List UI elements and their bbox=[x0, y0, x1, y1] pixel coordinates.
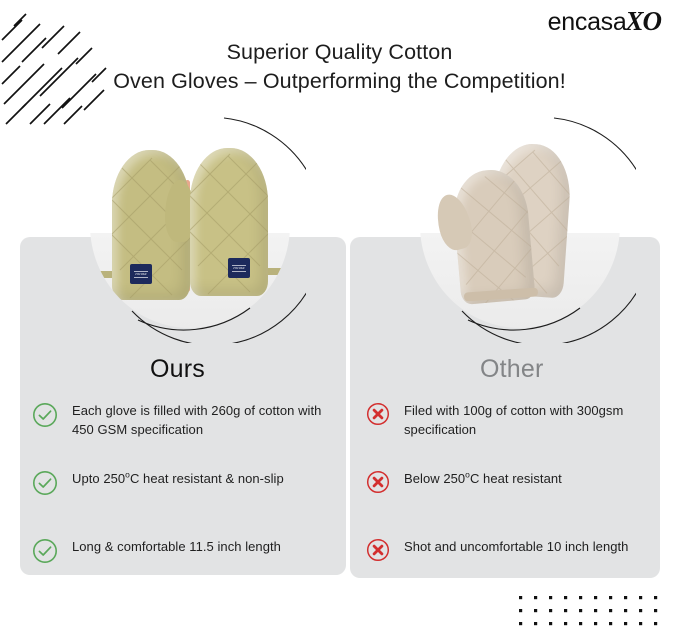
ours-feature-list: Each glove is filled with 260g of cotton… bbox=[32, 400, 332, 604]
page-title: Superior Quality Cotton Oven Gloves – Ou… bbox=[0, 38, 679, 96]
brand-mark: XO bbox=[625, 6, 661, 37]
feature-text: Long & comfortable 11.5 inch length bbox=[72, 536, 281, 557]
other-feature-list: Filed with 100g of cotton with 300gsm sp… bbox=[366, 400, 654, 604]
feature-text: Below 250oC heat resistant bbox=[404, 468, 562, 489]
feature-text: Filed with 100g of cotton with 300gsm sp… bbox=[404, 400, 654, 439]
feature-text-main: Below 250 bbox=[404, 471, 465, 486]
ours-image-ring bbox=[74, 108, 306, 343]
check-circle-icon bbox=[32, 538, 58, 564]
feature-text-tail: C heat resistant bbox=[470, 471, 562, 486]
check-circle-icon bbox=[32, 470, 58, 496]
check-circle-icon bbox=[32, 402, 58, 428]
other-image-ring bbox=[404, 108, 636, 343]
brand-logo: encasa XO bbox=[548, 6, 661, 37]
list-item: Each glove is filled with 260g of cotton… bbox=[32, 400, 332, 448]
feature-text-main: Long & comfortable 11.5 inch length bbox=[72, 539, 281, 554]
feature-text-main: Filed with 100g of cotton with 300gsm sp… bbox=[404, 403, 623, 437]
headline-line-1: Superior Quality Cotton bbox=[227, 40, 453, 64]
ours-title: Ours bbox=[150, 355, 205, 384]
headline-line-2: Oven Gloves – Outperforming the Competit… bbox=[0, 67, 679, 96]
cross-circle-icon bbox=[366, 402, 390, 426]
feature-text-main: Each glove is filled with 260g of cotton… bbox=[72, 403, 321, 437]
cross-circle-icon bbox=[366, 470, 390, 494]
list-item: Shot and uncomfortable 10 inch length bbox=[366, 536, 654, 584]
feature-text: Upto 250oC heat resistant & non-slip bbox=[72, 468, 284, 489]
feature-text-main: Shot and uncomfortable 10 inch length bbox=[404, 539, 628, 554]
other-title: Other bbox=[480, 355, 544, 384]
list-item: Filed with 100g of cotton with 300gsm sp… bbox=[366, 400, 654, 448]
feature-text-main: Upto 250 bbox=[72, 471, 125, 486]
list-item: Long & comfortable 11.5 inch length bbox=[32, 536, 332, 584]
brand-name: encasa bbox=[548, 8, 627, 37]
list-item: Below 250oC heat resistant bbox=[366, 468, 654, 516]
cross-circle-icon bbox=[366, 538, 390, 562]
list-item: Upto 250oC heat resistant & non-slip bbox=[32, 468, 332, 516]
other-product-image bbox=[404, 108, 636, 343]
feature-text: Shot and uncomfortable 10 inch length bbox=[404, 536, 628, 557]
feature-text: Each glove is filled with 260g of cotton… bbox=[72, 400, 332, 439]
feature-text-tail: C heat resistant & non-slip bbox=[130, 471, 284, 486]
ours-product-image: encasa encasa bbox=[74, 108, 306, 343]
